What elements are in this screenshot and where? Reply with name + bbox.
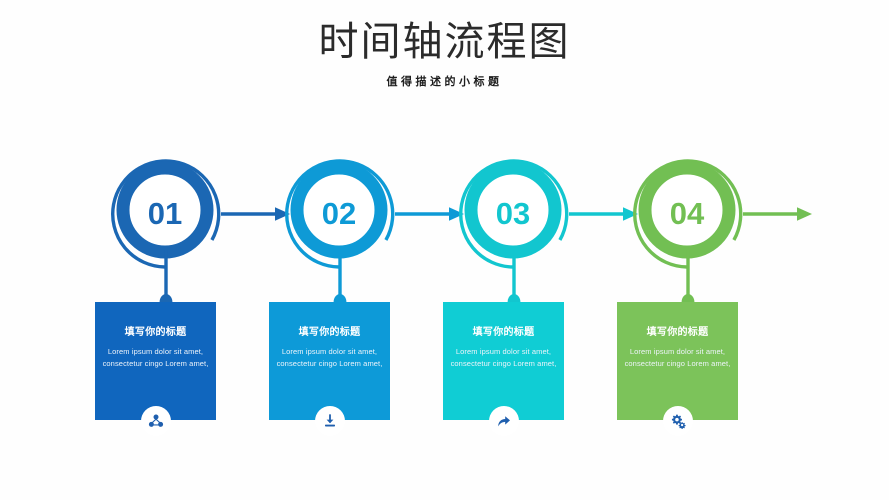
card-title: 填写你的标题 [450,326,557,339]
download-icon[interactable] [315,406,345,436]
gears-icon[interactable] [663,406,693,436]
card-body-text: Lorem ipsum dolor sit amet, consectetur … [102,346,209,370]
timeline-step-04: 04填写你的标题Lorem ipsum dolor sit amet, cons… [610,0,810,500]
card-title: 填写你的标题 [276,326,383,339]
timeline-step-02: 02填写你的标题Lorem ipsum dolor sit amet, cons… [262,0,462,500]
flow-arrow-04 [742,203,818,225]
info-card-02[interactable]: 填写你的标题Lorem ipsum dolor sit amet, consec… [269,302,390,420]
timeline-stage: 01填写你的标题Lorem ipsum dolor sit amet, cons… [0,0,889,500]
card-body-text: Lorem ipsum dolor sit amet, consectetur … [450,346,557,370]
card-title: 填写你的标题 [102,326,209,339]
timeline-step-03: 03填写你的标题Lorem ipsum dolor sit amet, cons… [436,0,636,500]
info-card-03[interactable]: 填写你的标题Lorem ipsum dolor sit amet, consec… [443,302,564,420]
card-body-text: Lorem ipsum dolor sit amet, consectetur … [276,346,383,370]
info-card-04[interactable]: 填写你的标题Lorem ipsum dolor sit amet, consec… [617,302,738,420]
info-card-01[interactable]: 填写你的标题Lorem ipsum dolor sit amet, consec… [95,302,216,420]
share-icon[interactable] [489,406,519,436]
slide-canvas: 时间轴流程图 值得描述的小标题 01填写你的标题Lorem ipsum dolo… [0,0,889,500]
card-title: 填写你的标题 [624,326,731,339]
network-nodes-icon[interactable] [141,406,171,436]
timeline-step-01: 01填写你的标题Lorem ipsum dolor sit amet, cons… [88,0,288,500]
card-body-text: Lorem ipsum dolor sit amet, consectetur … [624,346,731,370]
